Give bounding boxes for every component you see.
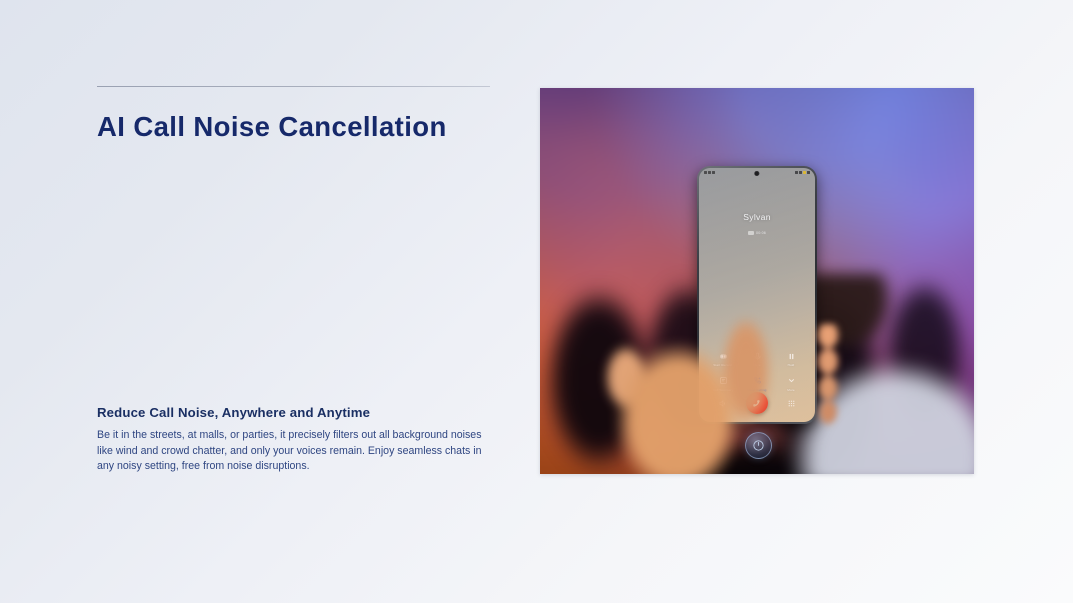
caller-info: Sylvan 00:06 — [699, 212, 815, 240]
signal-icon — [704, 171, 707, 174]
front-camera-punch-hole-icon — [754, 171, 759, 176]
wifi-icon — [708, 171, 711, 174]
call-timer-value: 00:06 — [756, 231, 766, 235]
signal-bars-icon — [803, 171, 806, 174]
page-title: AI Call Noise Cancellation — [97, 111, 493, 143]
body-block: Reduce Call Noise, Anywhere and Anytime … — [97, 405, 495, 475]
title-divider — [97, 86, 490, 87]
record-badge-icon — [748, 231, 754, 235]
product-photo: Sylvan 00:06 — [540, 88, 974, 474]
power-brand-icon — [752, 439, 765, 452]
status-bar — [699, 168, 815, 177]
battery-icon — [807, 171, 810, 174]
status-bar-right-icons — [795, 171, 810, 174]
call-timer: 00:06 — [748, 231, 766, 235]
body-paragraph: Be it in the streets, at malls, or parti… — [97, 428, 495, 475]
title-block: AI Call Noise Cancellation — [97, 86, 493, 143]
brand-badge — [745, 432, 772, 459]
bluetooth-icon — [799, 171, 802, 174]
section-subtitle: Reduce Call Noise, Anywhere and Anytime — [97, 405, 495, 420]
vibrate-icon — [712, 171, 715, 174]
fingers — [810, 324, 846, 434]
alarm-icon — [795, 171, 798, 174]
status-bar-left-icons — [704, 171, 715, 174]
presentation-slide: AI Call Noise Cancellation Reduce Call N… — [0, 0, 1073, 603]
caller-name: Sylvan — [699, 212, 815, 222]
